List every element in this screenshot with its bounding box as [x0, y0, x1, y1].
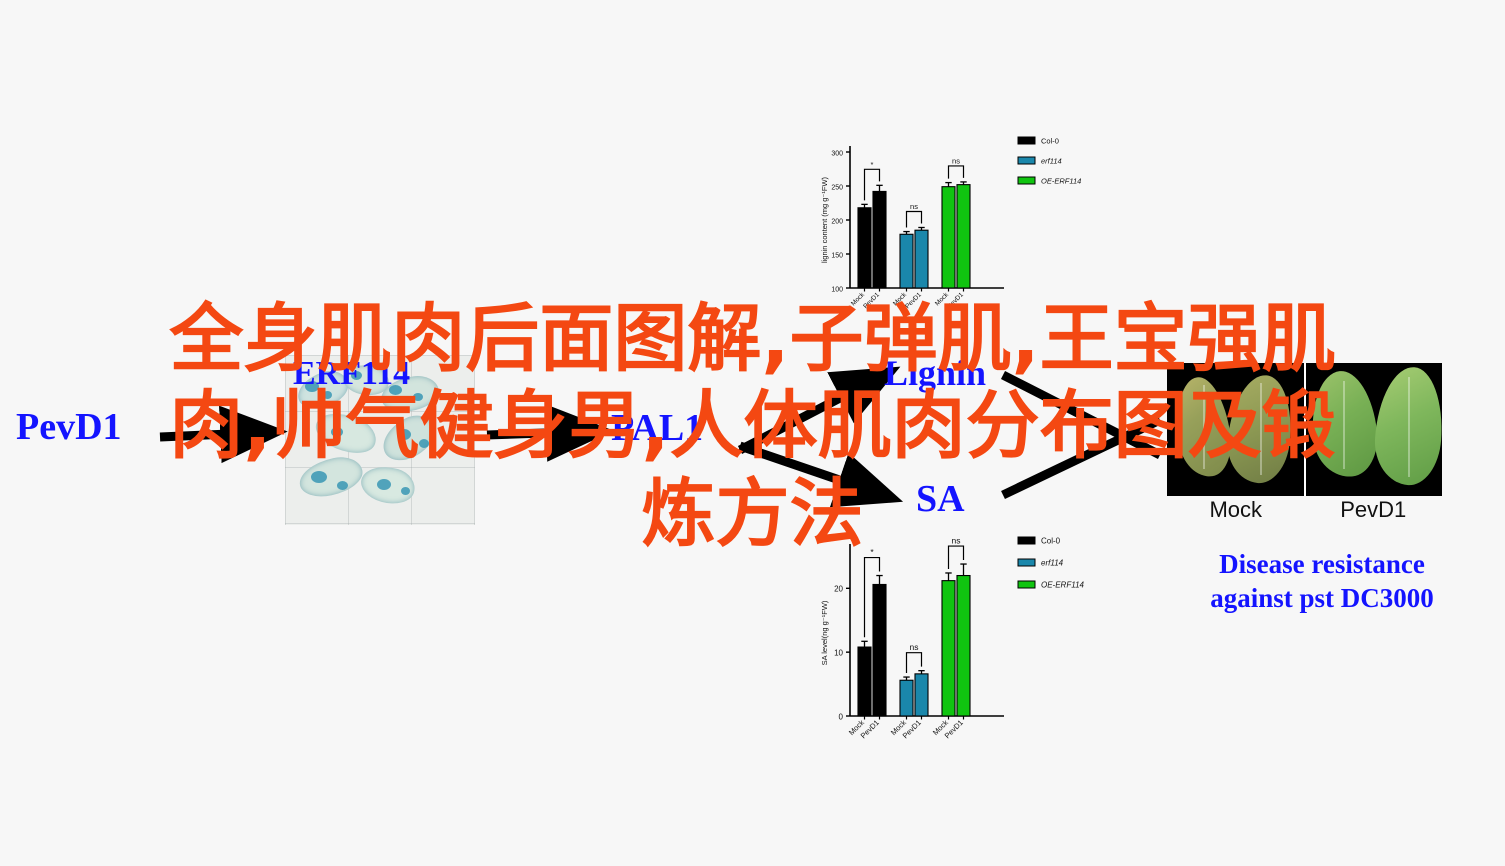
- bar: [900, 234, 913, 288]
- significance-bracket: [907, 211, 922, 227]
- leaf-half-pevd1: [1304, 363, 1443, 496]
- legend-swatch: [1018, 537, 1035, 544]
- arrow-erf114-to-pal1: [487, 431, 602, 435]
- node-label-lignin: Lignin: [884, 355, 986, 391]
- arrow-lignin-to-leaf: [1003, 375, 1160, 455]
- x-tick-label: PevD1: [904, 291, 923, 310]
- bar: [957, 576, 970, 716]
- y-tick-label: 150: [831, 252, 843, 259]
- legend-label: OE-ERF114: [1041, 581, 1085, 590]
- bar: [942, 581, 955, 716]
- bar: [858, 208, 871, 288]
- bar: [858, 647, 871, 716]
- leaf-panel-captions: Mock PevD1: [1167, 497, 1442, 523]
- legend-label: erf114: [1041, 559, 1064, 568]
- sa-bar-chart: 01020SA level(ng g⁻¹FW)MockPevD1MockPevD…: [818, 528, 1128, 756]
- leaf-caption-pevd1: PevD1: [1305, 497, 1443, 523]
- bar: [873, 584, 886, 716]
- significance-annotation: ns: [952, 536, 961, 546]
- legend-swatch: [1018, 581, 1035, 588]
- lignin-bar-chart: 100150200250300lignin content (mg g⁻¹FW)…: [818, 130, 1128, 315]
- x-tick-label: PevD1: [862, 291, 881, 310]
- bar: [915, 230, 928, 288]
- lignin-chart-svg: 100150200250300lignin content (mg g⁻¹FW)…: [818, 130, 1128, 315]
- legend-label: Col-0: [1041, 137, 1059, 146]
- significance-annotation: ns: [910, 202, 918, 211]
- bar: [873, 191, 886, 288]
- y-tick-label: 0: [839, 712, 844, 721]
- node-label-pal1: PAL1: [611, 409, 703, 447]
- legend-swatch: [1018, 157, 1035, 164]
- arrow-pal1-to-sa: [740, 446, 892, 498]
- disease-resistance-label: Disease resistance against pst DC3000: [1162, 548, 1482, 616]
- legend-label: OE-ERF114: [1041, 177, 1081, 186]
- legend-swatch: [1018, 559, 1035, 566]
- legend-swatch: [1018, 137, 1035, 144]
- legend-swatch: [1018, 177, 1035, 184]
- sa-chart-svg: 01020SA level(ng g⁻¹FW)MockPevD1MockPevD…: [818, 528, 1128, 756]
- y-axis-label: lignin content (mg g⁻¹FW): [820, 176, 829, 263]
- y-tick-label: 300: [831, 150, 843, 157]
- node-label-pevd1: PevD1: [16, 408, 122, 446]
- legend-label: erf114: [1041, 157, 1062, 166]
- leaf-half-mock: [1167, 363, 1304, 496]
- y-tick-label: 20: [834, 585, 843, 594]
- y-tick-label: 200: [831, 218, 843, 225]
- leaf-disease-image: [1167, 363, 1442, 496]
- y-axis-label: SA level(ng g⁻¹FW): [820, 600, 829, 665]
- significance-annotation: ns: [910, 642, 919, 652]
- bar: [942, 187, 955, 288]
- legend-label: Col-0: [1041, 537, 1061, 546]
- node-label-sa: SA: [916, 480, 965, 518]
- node-label-erf114: ERF114: [293, 357, 410, 391]
- significance-bracket: [949, 166, 964, 179]
- significance-annotation: *: [871, 160, 874, 169]
- y-tick-label: 100: [831, 286, 843, 293]
- y-tick-label: 250: [831, 184, 843, 191]
- x-tick-label: PevD1: [946, 291, 965, 310]
- significance-bracket: [907, 653, 922, 673]
- arrow-pal1-to-lignin: [740, 372, 890, 450]
- disease-resistance-line1: Disease resistance: [1162, 548, 1482, 582]
- significance-annotation: *: [870, 547, 874, 557]
- figure-canvas: Mock PevD1 Disease resistance against ps…: [0, 0, 1505, 866]
- bar: [957, 185, 970, 288]
- leaf-caption-mock: Mock: [1167, 497, 1305, 523]
- significance-annotation: ns: [952, 156, 960, 165]
- arrow-sa-to-leaf: [1003, 420, 1160, 495]
- bar: [900, 680, 913, 716]
- bar: [915, 674, 928, 716]
- disease-resistance-line2: against pst DC3000: [1162, 582, 1482, 616]
- significance-bracket: [949, 546, 964, 569]
- arrow-pevd1-to-erf114: [160, 432, 276, 437]
- y-tick-label: 10: [834, 649, 843, 658]
